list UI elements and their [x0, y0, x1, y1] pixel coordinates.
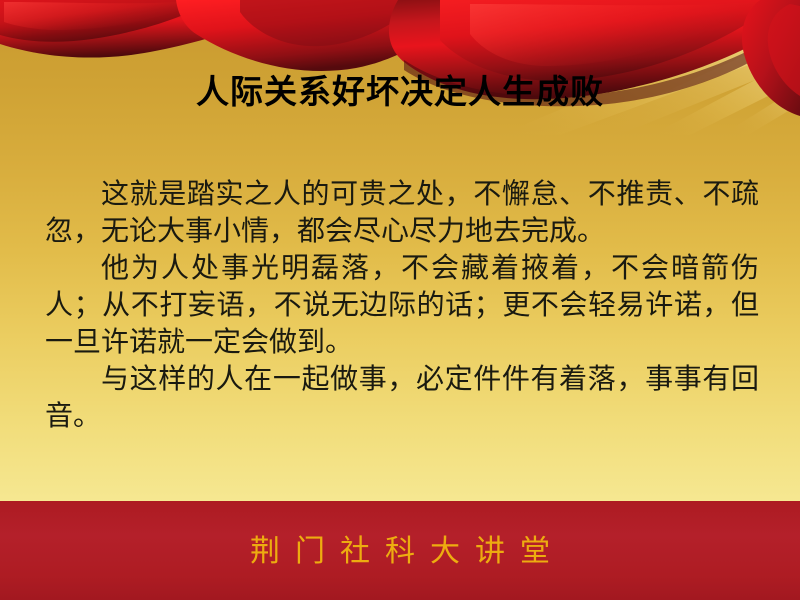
top-ribbon-decoration [0, 0, 800, 135]
slide-body: 这就是踏实之人的可贵之处，不懈怠、不推责、不疏忽，无论大事小情，都会尽心尽力地去… [45, 176, 759, 435]
footer-title: 荆门社科大讲堂 [0, 532, 800, 572]
presentation-slide: 人际关系好坏决定人生成败 这就是踏实之人的可贵之处，不懈怠、不推责、不疏忽，无论… [0, 0, 800, 600]
body-paragraph-1: 这就是踏实之人的可贵之处，不懈怠、不推责、不疏忽，无论大事小情，都会尽心尽力地去… [45, 176, 759, 250]
slide-title: 人际关系好坏决定人生成败 [0, 72, 800, 112]
ribbon-graphic [0, 0, 800, 135]
body-paragraph-2: 他为人处事光明磊落，不会藏着掖着，不会暗箭伤人；从不打妄语，不说无边际的话；更不… [45, 250, 759, 361]
body-paragraph-3: 与这样的人在一起做事，必定件件有着落，事事有回音。 [45, 361, 759, 435]
